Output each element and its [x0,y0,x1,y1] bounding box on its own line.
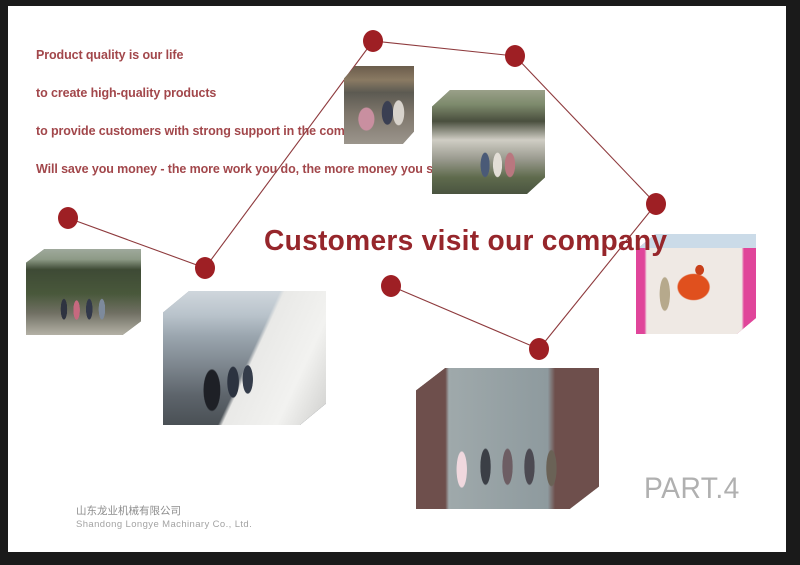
company-name-english: Shandong Longye Machinary Co., Ltd. [76,518,252,532]
photo-green-machine [26,249,141,335]
network-node-n4 [505,45,525,67]
network-node-n1 [58,207,78,229]
network-node-n5 [646,193,666,215]
photo-truck-inspection-image [163,291,326,425]
slide-page: Product quality is our life to create hi… [8,6,786,552]
network-node-n6 [529,338,549,360]
slide-title: Customers visit our company [264,225,667,258]
footer-company-block: 山东龙业机械有限公司 Shandong Longye Machinary Co.… [76,504,252,532]
photo-factory-visit-image [344,66,414,144]
network-node-n2 [195,257,215,279]
photo-workshop-group-image [432,90,545,194]
slide-canvas: Product quality is our life to create hi… [0,0,800,565]
photo-office-group-image [416,368,599,509]
part-number-label: PART.4 [644,472,740,506]
photo-green-machine-image [26,249,141,335]
company-name-chinese: 山东龙业机械有限公司 [76,504,252,518]
network-edge [391,286,539,349]
tagline-1: Product quality is our life [36,48,466,62]
tagline-4: Will save you money - the more work you … [36,162,466,176]
photo-factory-visit [344,66,414,144]
photo-office-group [416,368,599,509]
photo-truck-inspection [163,291,326,425]
photo-workshop-group [432,90,545,194]
network-node-n7 [381,275,401,297]
